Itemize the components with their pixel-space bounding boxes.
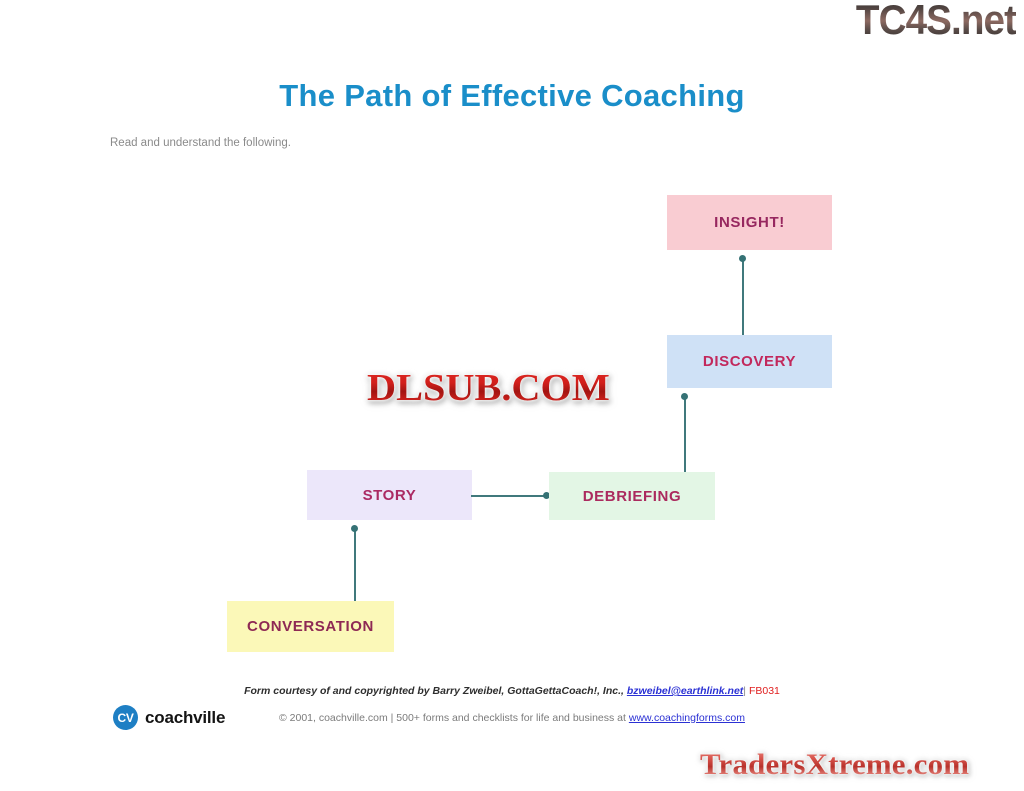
page-subtitle: Read and understand the following. xyxy=(110,137,291,149)
connector-dot-insight xyxy=(739,255,746,262)
coachville-logo-text: coachville xyxy=(145,708,225,728)
node-conversation-label: CONVERSATION xyxy=(247,618,374,635)
connector-debriefing-to-discovery xyxy=(684,396,686,472)
node-insight[interactable]: INSIGHT! xyxy=(667,195,832,250)
footer-email-link[interactable]: bzweibel@earthlink.net xyxy=(627,685,743,697)
connector-dot-discovery xyxy=(681,393,688,400)
footer-credit-line: Form courtesy of and copyrighted by Barr… xyxy=(0,685,1024,697)
footer-credit-text: Form courtesy of and copyrighted by Barr… xyxy=(244,685,624,697)
node-debriefing[interactable]: DEBRIEFING xyxy=(549,472,715,520)
node-discovery-label: DISCOVERY xyxy=(703,353,796,370)
connector-conversation-to-story xyxy=(354,528,356,601)
coachville-logo[interactable]: CV coachville xyxy=(113,705,225,730)
page-title: The Path of Effective Coaching xyxy=(0,78,1024,114)
watermark-dlsub: DLSUB.COM xyxy=(367,366,610,410)
footer-coachingforms-link[interactable]: www.coachingforms.com xyxy=(629,712,745,724)
footer-credit-separator: | xyxy=(743,685,746,697)
page-canvas: TC4S.net The Path of Effective Coaching … xyxy=(0,0,1024,791)
footer-form-code: FB031 xyxy=(749,685,780,697)
node-discovery[interactable]: DISCOVERY xyxy=(667,335,832,388)
connector-dot-story xyxy=(351,525,358,532)
node-story[interactable]: STORY xyxy=(307,470,472,520)
watermark-tradersxtreme: TradersXtreme.com xyxy=(700,748,969,782)
coachville-logo-mark-icon: CV xyxy=(113,705,138,730)
node-debriefing-label: DEBRIEFING xyxy=(583,488,682,505)
node-story-label: STORY xyxy=(363,487,417,504)
connector-story-to-debriefing xyxy=(471,495,549,497)
footer-copyright-text: © 2001, coachville.com | 500+ forms and … xyxy=(279,712,626,724)
watermark-tc4s: TC4S.net xyxy=(856,0,1016,42)
connector-discovery-to-insight xyxy=(742,257,744,335)
node-insight-label: INSIGHT! xyxy=(714,214,785,231)
node-conversation[interactable]: CONVERSATION xyxy=(227,601,394,652)
